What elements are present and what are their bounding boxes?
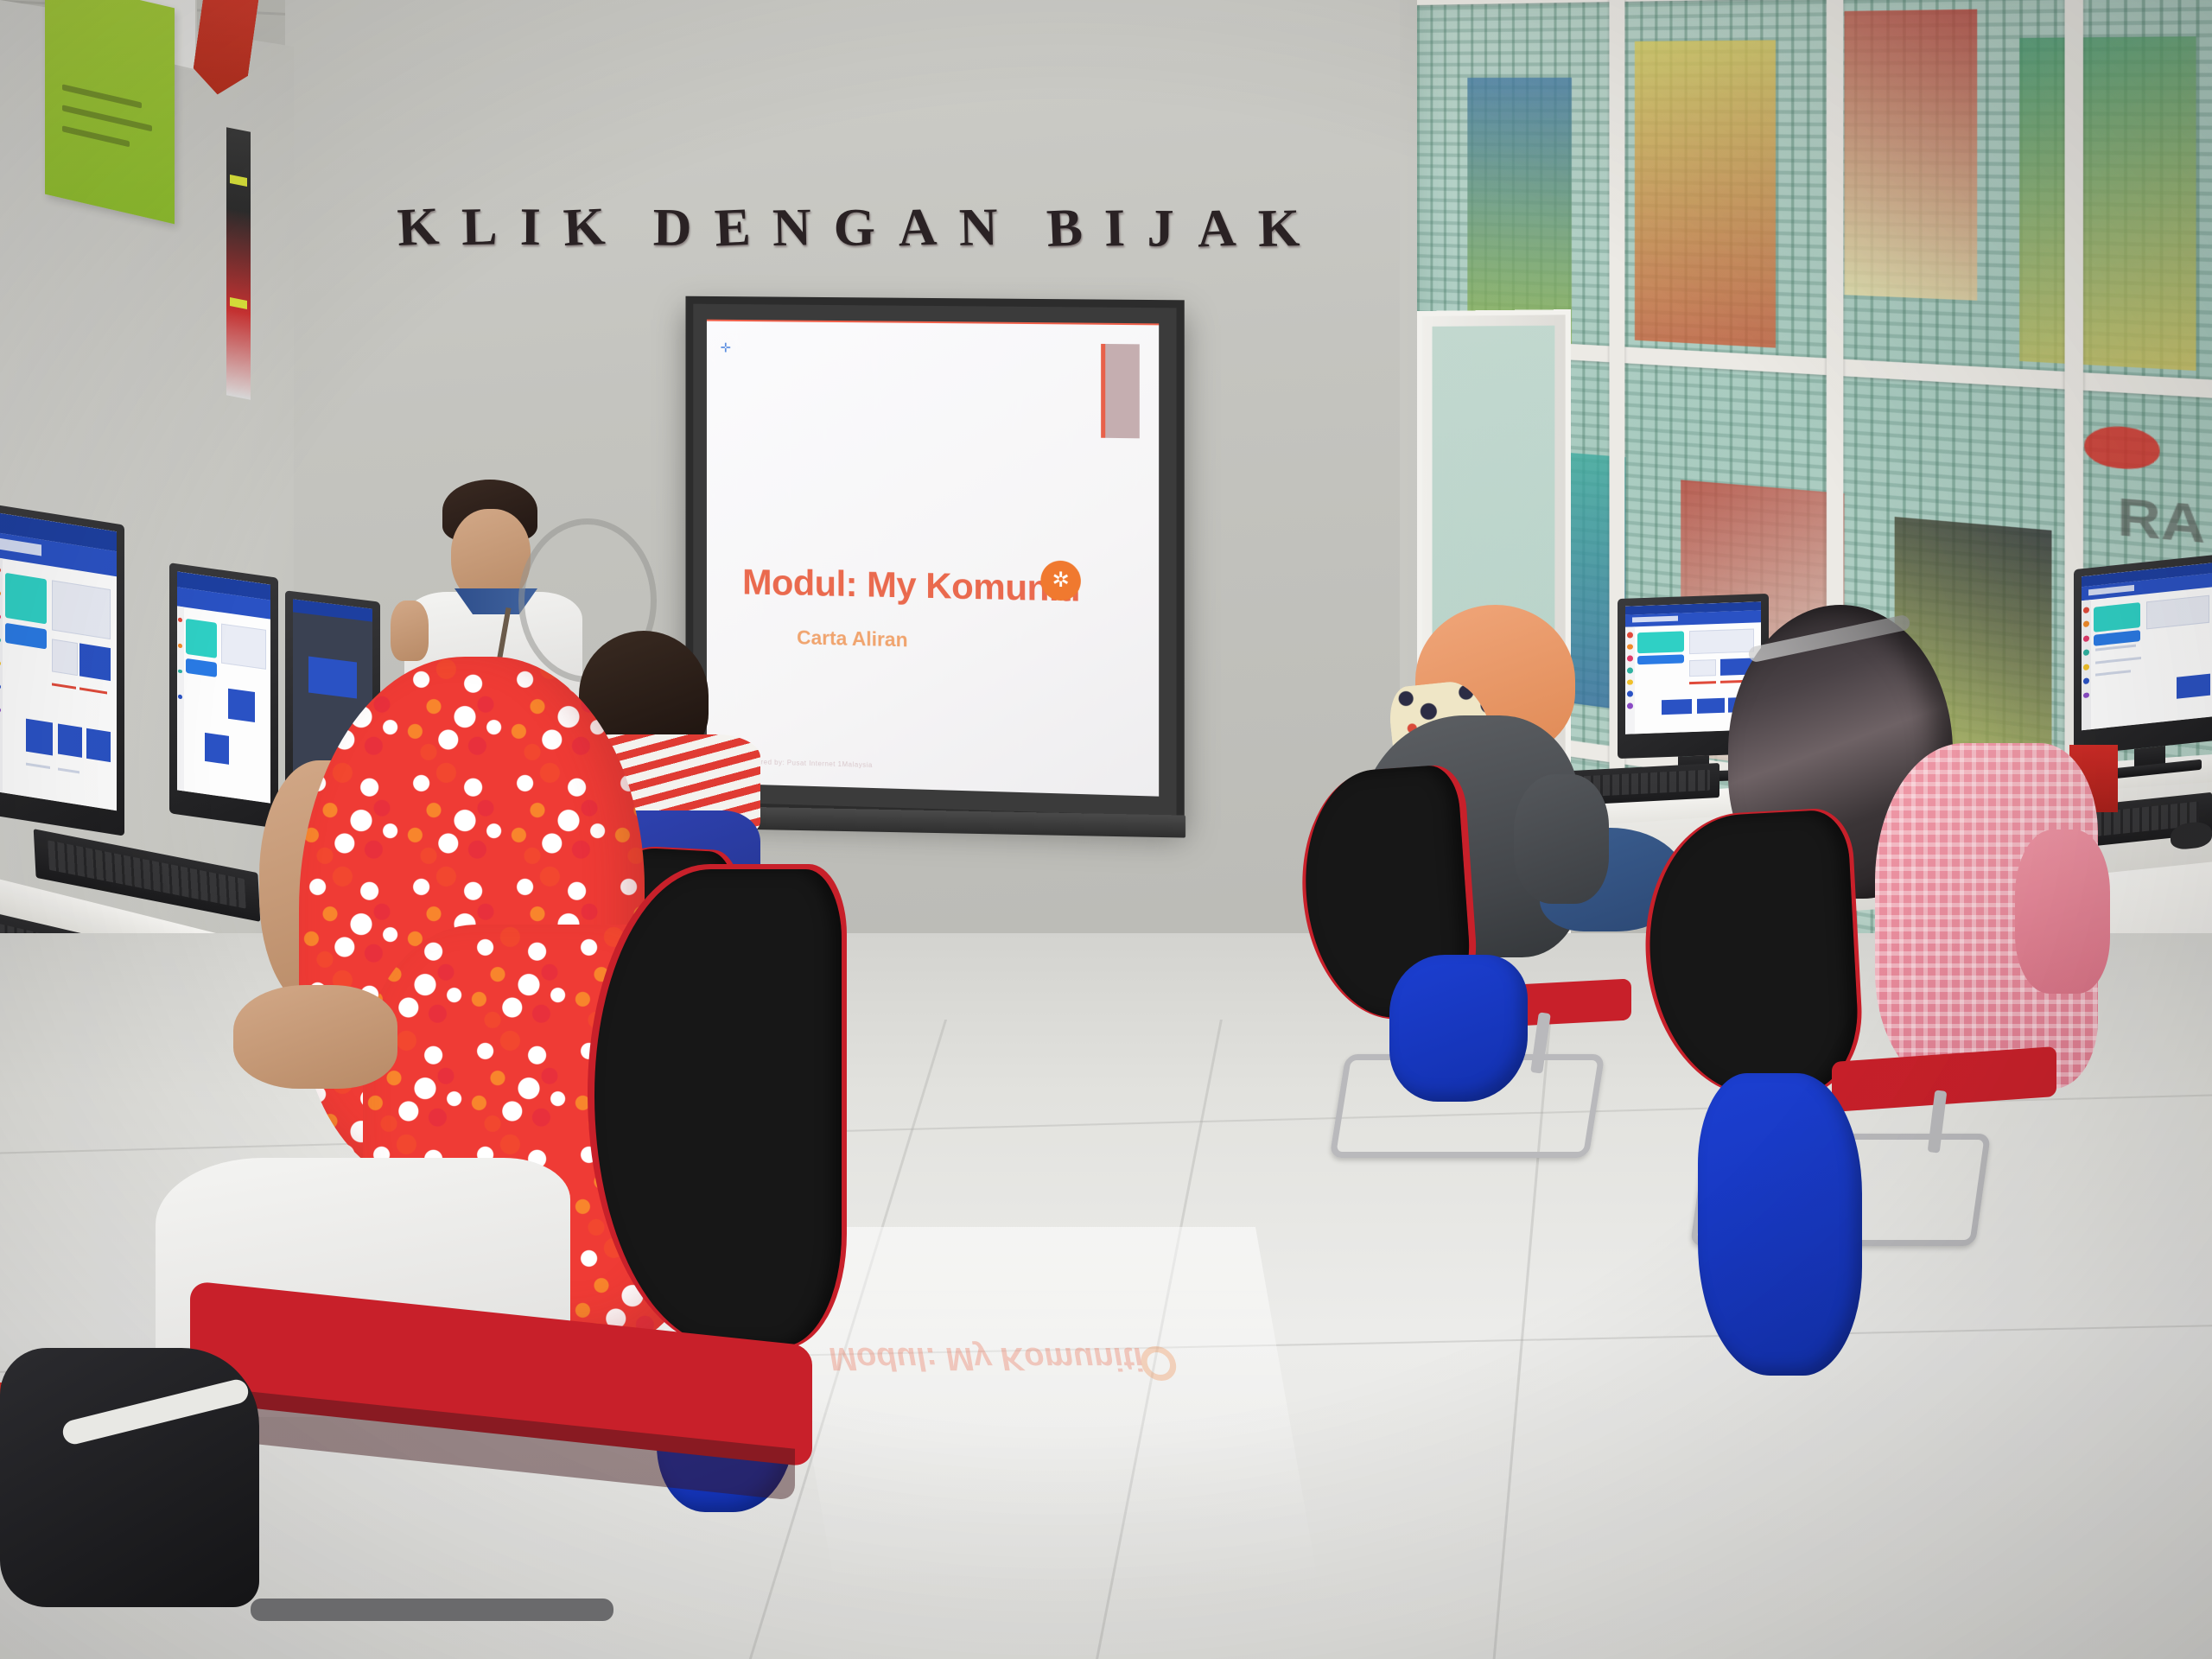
poster-behind-glass-2	[1635, 40, 1776, 347]
wall-letter-a-9: A	[897, 200, 938, 256]
wall-letter-n-10: N	[958, 200, 998, 255]
blouse-sleeve	[2015, 829, 2110, 994]
site-thumbnail-1	[79, 643, 111, 681]
slide-subtitle: Carta Aliran	[797, 626, 907, 652]
blue-cloth-draped-right-1	[1389, 955, 1528, 1102]
vertical-banner	[226, 127, 251, 399]
site-card-2	[52, 639, 78, 676]
chair-frame-foreground	[251, 1599, 613, 1621]
chair-backrest	[1643, 809, 1862, 1101]
site-cta-button[interactable]	[2094, 631, 2139, 646]
site-thumbnail-2	[205, 733, 229, 765]
wall-letter-k-0: K	[396, 200, 440, 255]
wall-letter-j-14: J	[1147, 202, 1174, 256]
site-text-line-2	[58, 768, 80, 774]
site-thumbnail-4	[86, 728, 111, 762]
website-view	[177, 571, 270, 803]
site-text-line-2	[2095, 657, 2141, 664]
site-cta-button[interactable]	[5, 623, 47, 649]
slide-title: Modul: My Komuniti	[742, 562, 1080, 610]
wall-letter-a-15: A	[1196, 201, 1236, 257]
site-hero-banner	[2094, 603, 2139, 632]
website-view	[2082, 563, 2212, 731]
wall-letter-space	[626, 196, 652, 197]
site-hero-banner	[186, 619, 218, 658]
wall-letter-i-2: I	[519, 200, 540, 254]
wall-letter-l-1: L	[461, 200, 498, 254]
wall-letter-b-12: B	[1046, 200, 1084, 256]
wall-letter-e-6: E	[714, 200, 752, 256]
monitor-left-1	[0, 503, 124, 836]
lab-room-photo: KLIKDENGANBIJAK RA boM A ✛ Modul	[0, 0, 2212, 1659]
site-social-sidebar	[177, 607, 184, 791]
site-thumbnail-1	[2177, 674, 2210, 699]
site-cta-button[interactable]	[186, 658, 218, 677]
hands-clasped-foreground	[233, 985, 397, 1089]
site-text-line-1	[2095, 645, 2136, 652]
glass-text-fragment-ra: RA	[2117, 486, 2205, 556]
asterisk-icon: ✲	[1052, 570, 1069, 592]
blue-cloth-draped-right-2	[1698, 1073, 1862, 1376]
site-text-line-1	[26, 763, 50, 769]
monitor-screen[interactable]	[0, 512, 117, 810]
wall-letter-space	[1020, 188, 1046, 189]
lab-chair-foreground[interactable]	[588, 864, 959, 1624]
site-red-line-1	[52, 683, 76, 690]
website-view	[0, 512, 117, 810]
poster-behind-glass-1	[1467, 78, 1572, 346]
wall-letter-g-8: G	[833, 200, 875, 254]
site-thumbnail-3	[58, 723, 82, 758]
slide-cursor-marker: ✛	[721, 340, 730, 350]
wall-letter-i-13: I	[1103, 201, 1125, 255]
site-thumbnail-2	[26, 718, 53, 756]
site-card-1	[52, 580, 111, 639]
site-red-line-2	[79, 688, 106, 695]
wall-letter-d-5: D	[653, 201, 692, 255]
poster-behind-glass-3	[1845, 10, 1978, 301]
wall-letter-n-7: N	[772, 200, 811, 255]
slide-corner-graphic	[1101, 344, 1140, 438]
site-thumbnail-1	[228, 688, 254, 722]
site-hero-banner	[5, 573, 47, 624]
site-card-1	[2146, 595, 2209, 630]
wall-letter-k-3: K	[562, 200, 606, 255]
site-social-sidebar	[0, 556, 3, 792]
green-wall-poster	[45, 0, 175, 224]
poster-behind-glass-4	[2019, 36, 2196, 371]
site-text-line-3	[2095, 670, 2131, 676]
slide-badge-icon: ✲	[1040, 560, 1080, 601]
monitor-screen[interactable]	[177, 571, 270, 803]
monitor-screen[interactable]	[2082, 563, 2212, 731]
wall-letter-k-16: K	[1257, 201, 1300, 256]
